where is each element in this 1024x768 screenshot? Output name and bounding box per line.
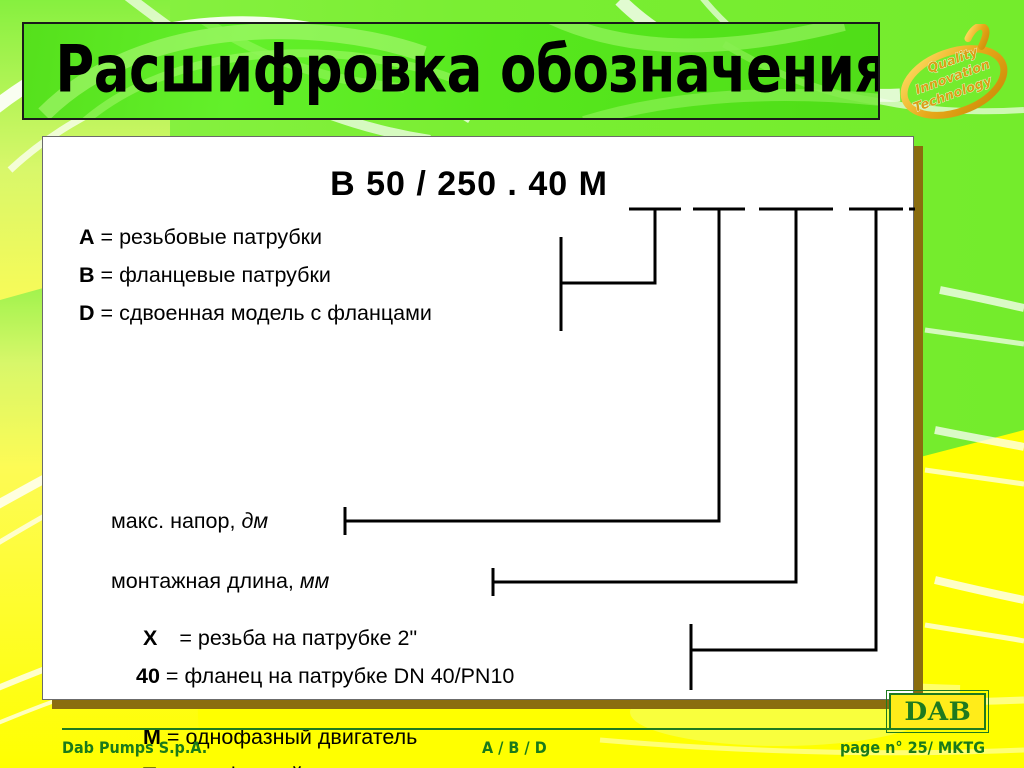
- legend-row-B: B = фланцевые патрубки: [79, 263, 331, 288]
- footer-company: Dab Pumps S.p.A.: [62, 738, 207, 757]
- legend-text-T: трехфазный двигатель: [181, 763, 409, 768]
- content-card: B 50 / 250 . 40 M: [42, 136, 914, 700]
- footer-series: A / B / D: [482, 738, 547, 757]
- legend-row-install-length: монтажная длина, мм: [111, 569, 329, 594]
- legend-key-D: D: [79, 301, 95, 325]
- legend-row-X: X = резьба на патрубке 2": [143, 626, 417, 651]
- legend-text-X: резьба на патрубке 2": [198, 626, 417, 650]
- legend-row-A: A = резьбовые патрубки: [79, 225, 322, 250]
- legend-key-B: B: [79, 263, 95, 287]
- quality-innovation-technology-logo: Quality Innovation Technology: [896, 24, 1012, 136]
- legend-eq-T: =: [162, 763, 175, 768]
- designation-connector-diagram: [43, 137, 915, 701]
- legend-unit-install-length: мм: [300, 569, 329, 593]
- legend-key-T: T: [143, 763, 156, 768]
- legend-key-40: 40: [136, 664, 160, 688]
- legend-text-B: фланцевые патрубки: [119, 263, 331, 287]
- legend-text-install-length: монтажная длина,: [111, 569, 294, 593]
- footer-page-number: page n° 25/ MKTG: [840, 738, 985, 757]
- dab-logo-text: DAB: [904, 697, 971, 726]
- legend-eq-B: =: [101, 263, 114, 287]
- footer-divider: [62, 728, 962, 730]
- legend-row-max-head: макс. напор, дм: [111, 509, 268, 534]
- card-shadow-right: [914, 146, 923, 710]
- legend-eq-40: =: [166, 664, 179, 688]
- legend-text-A: резьбовые патрубки: [119, 225, 322, 249]
- legend-text-max-head: макс. напор,: [111, 509, 235, 533]
- dab-logo: DAB: [889, 693, 986, 730]
- legend-unit-max-head: дм: [241, 509, 268, 533]
- legend-row-40: 40 = фланец на патрубке DN 40/PN10: [136, 664, 514, 689]
- legend-key-A: A: [79, 225, 95, 249]
- legend-row-T: T = трехфазный двигатель: [143, 763, 408, 768]
- slide-title-bar: Расшифровка обозначения: [22, 22, 880, 120]
- page-title: Расшифровка обозначения: [24, 37, 878, 103]
- legend-row-D: D = сдвоенная модель с фланцами: [79, 301, 432, 326]
- legend-text-40: фланец на патрубке DN 40/PN10: [184, 664, 514, 688]
- legend-key-X: X: [143, 626, 157, 650]
- legend-eq-A: =: [101, 225, 114, 249]
- legend-eq-D: =: [101, 301, 114, 325]
- card-shadow-bottom: [52, 700, 923, 709]
- legend-text-D: сдвоенная модель с фланцами: [119, 301, 432, 325]
- legend-eq-X: =: [179, 626, 192, 650]
